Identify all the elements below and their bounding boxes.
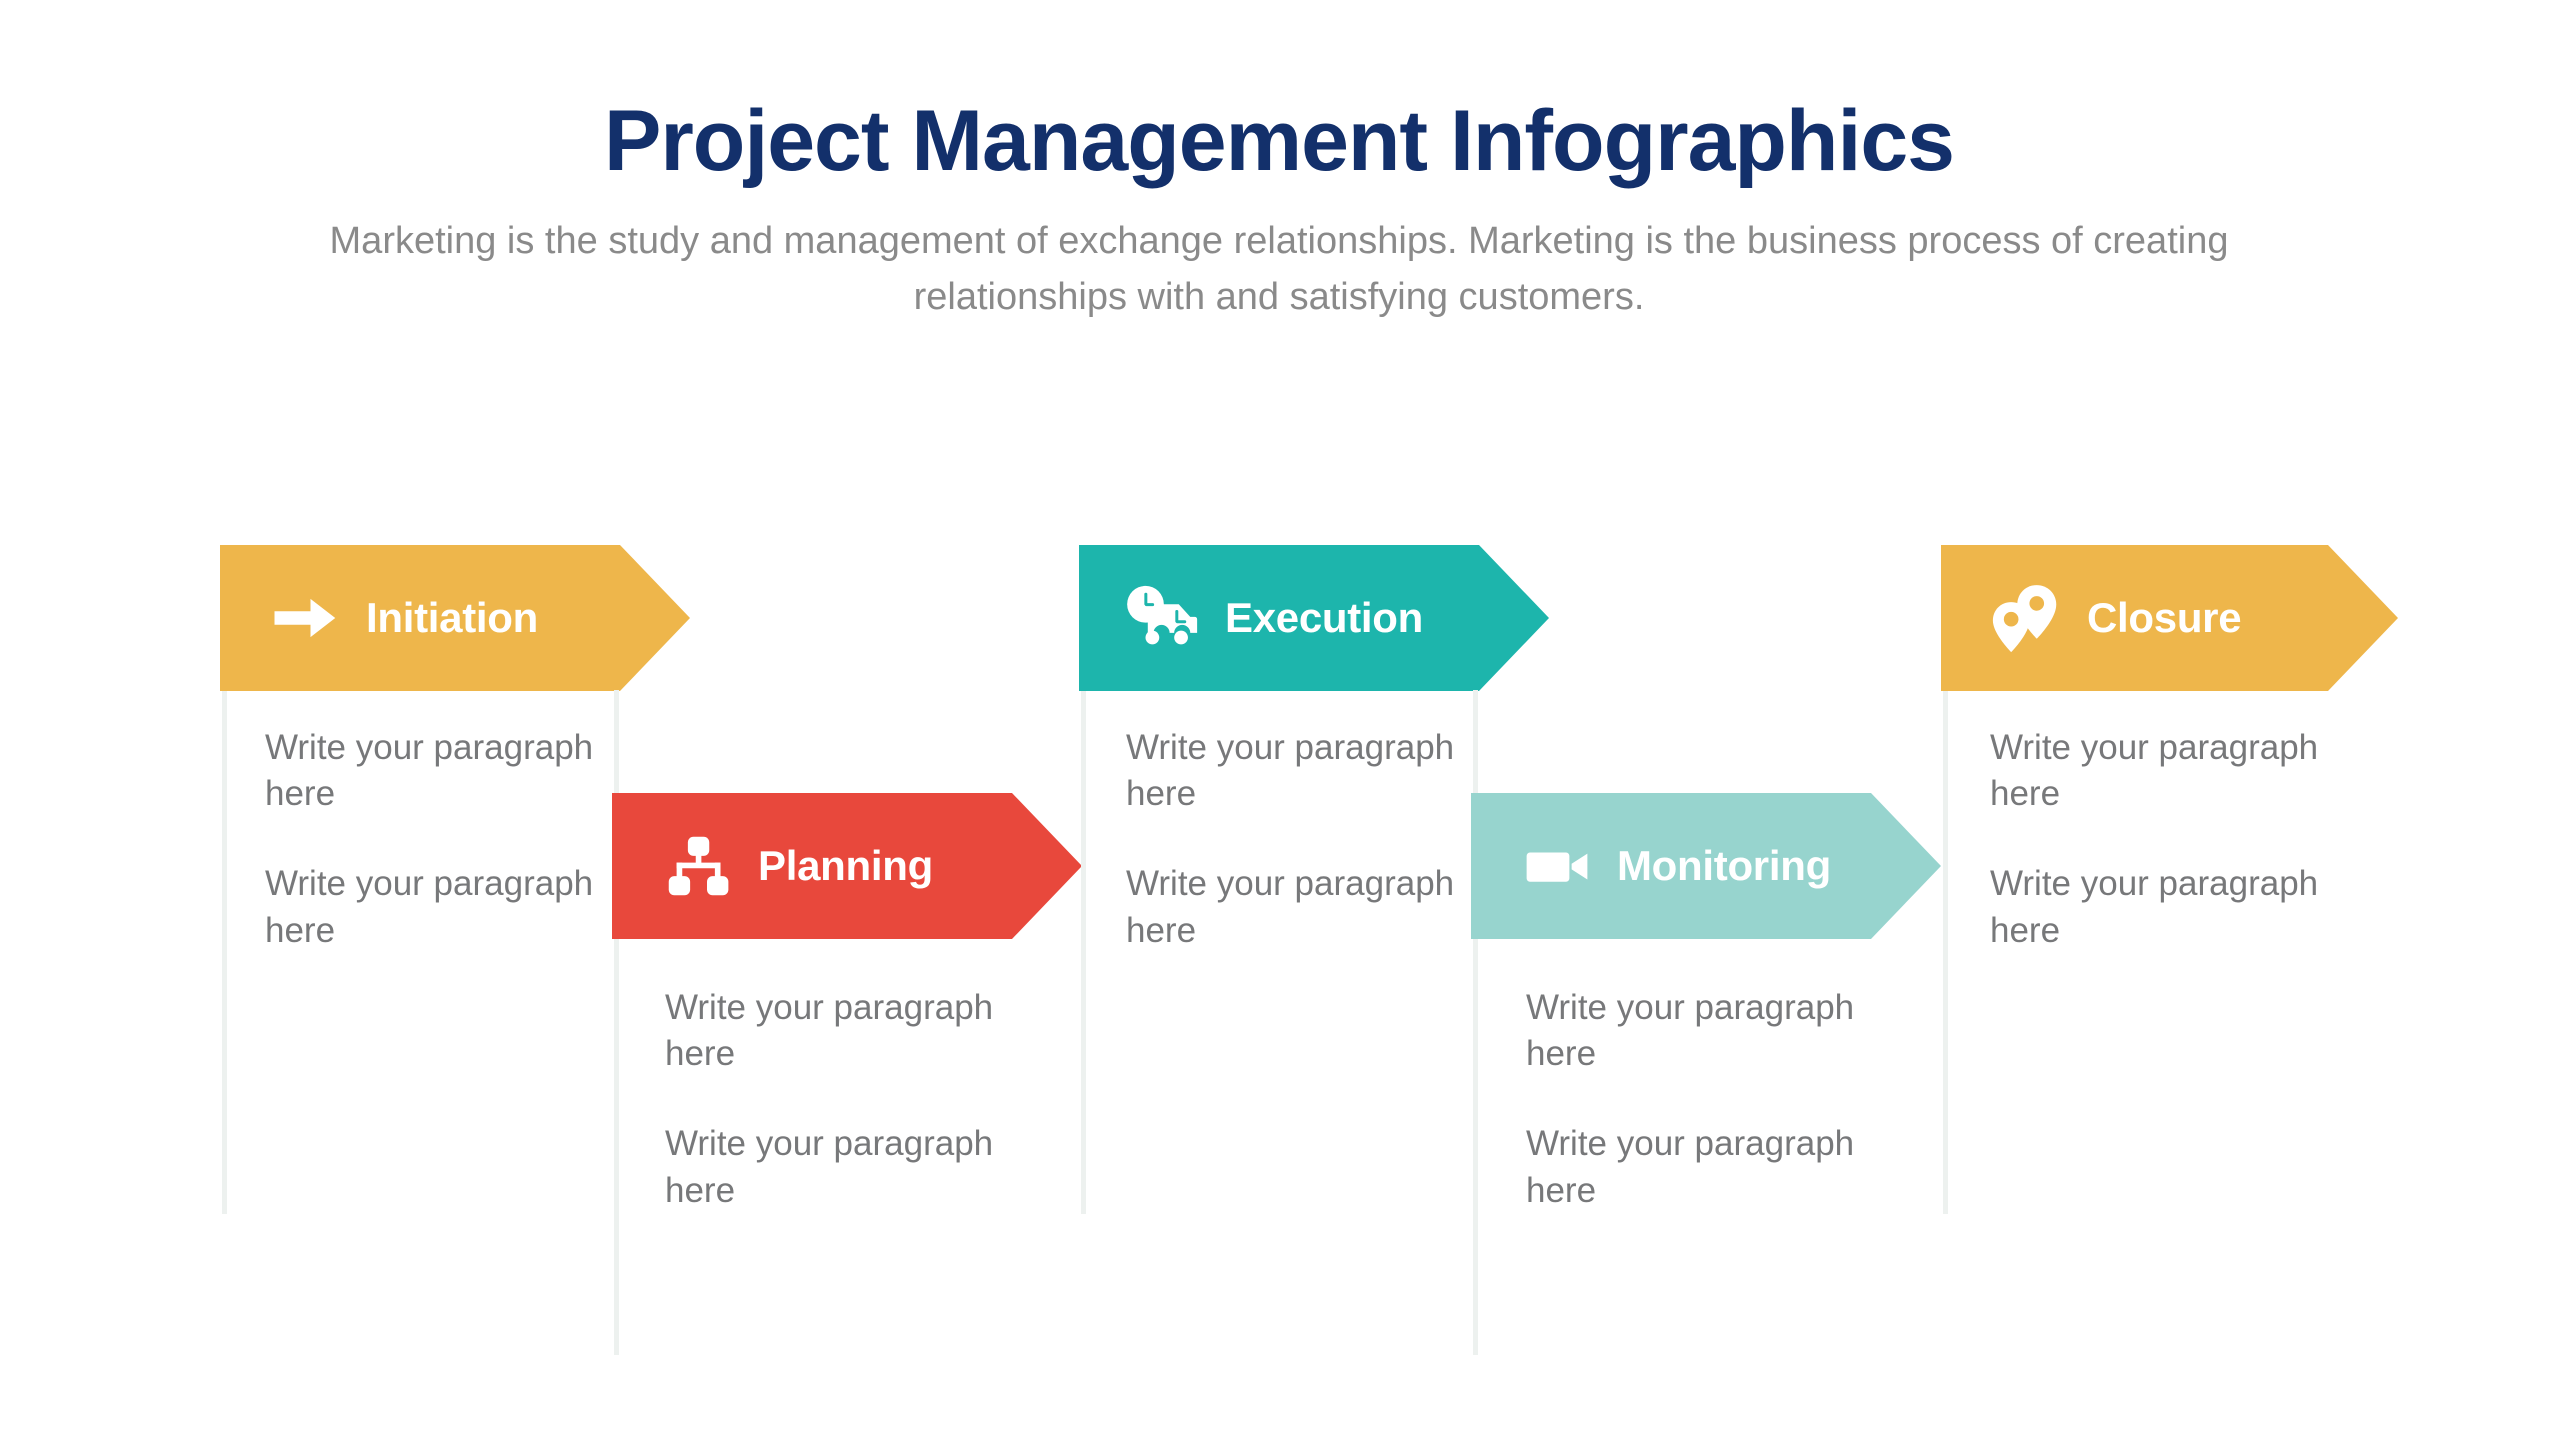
step-body-initiation: Write your paragraph here Write your par… (265, 725, 595, 954)
step-divider-execution (1081, 690, 1086, 1214)
step-label-initiation: Initiation (366, 594, 538, 642)
step-paragraph: Write your paragraph here (1990, 861, 2320, 953)
process-steps: Initiation Write your paragraph here Wri… (0, 0, 2558, 1450)
step-body-execution: Write your paragraph here Write your par… (1126, 725, 1456, 954)
step-body-monitoring: Write your paragraph here Write your par… (1526, 985, 1856, 1214)
step-divider-initiation (222, 690, 227, 1214)
step-body-closure: Write your paragraph here Write your par… (1990, 725, 2320, 954)
step-banner-monitoring[interactable]: Monitoring (1471, 793, 1941, 939)
step-divider-planning (614, 690, 619, 1355)
step-paragraph: Write your paragraph here (265, 725, 595, 817)
video-camera-icon (1511, 820, 1603, 912)
step-paragraph: Write your paragraph here (265, 861, 595, 953)
step-label-planning: Planning (758, 842, 933, 890)
step-paragraph: Write your paragraph here (665, 1121, 995, 1213)
step-divider-closure (1943, 690, 1948, 1214)
step-banner-execution[interactable]: Execution (1079, 545, 1549, 691)
step-banner-initiation[interactable]: Initiation (220, 545, 690, 691)
step-paragraph: Write your paragraph here (1126, 861, 1456, 953)
step-paragraph: Write your paragraph here (1126, 725, 1456, 817)
step-label-closure: Closure (2087, 594, 2241, 642)
step-divider-monitoring (1473, 690, 1478, 1355)
step-body-planning: Write your paragraph here Write your par… (665, 985, 995, 1214)
step-paragraph: Write your paragraph here (1526, 1121, 1856, 1213)
step-label-execution: Execution (1225, 594, 1423, 642)
step-paragraph: Write your paragraph here (1990, 725, 2320, 817)
step-banner-planning[interactable]: Planning (612, 793, 1082, 939)
arrow-right-icon (260, 572, 352, 664)
step-label-monitoring: Monitoring (1617, 842, 1831, 890)
org-chart-icon (652, 820, 744, 912)
step-banner-closure[interactable]: Closure (1941, 545, 2398, 691)
map-pins-icon (1981, 572, 2073, 664)
step-paragraph: Write your paragraph here (665, 985, 995, 1077)
delivery-truck-clock-icon (1119, 572, 1211, 664)
step-paragraph: Write your paragraph here (1526, 985, 1856, 1077)
